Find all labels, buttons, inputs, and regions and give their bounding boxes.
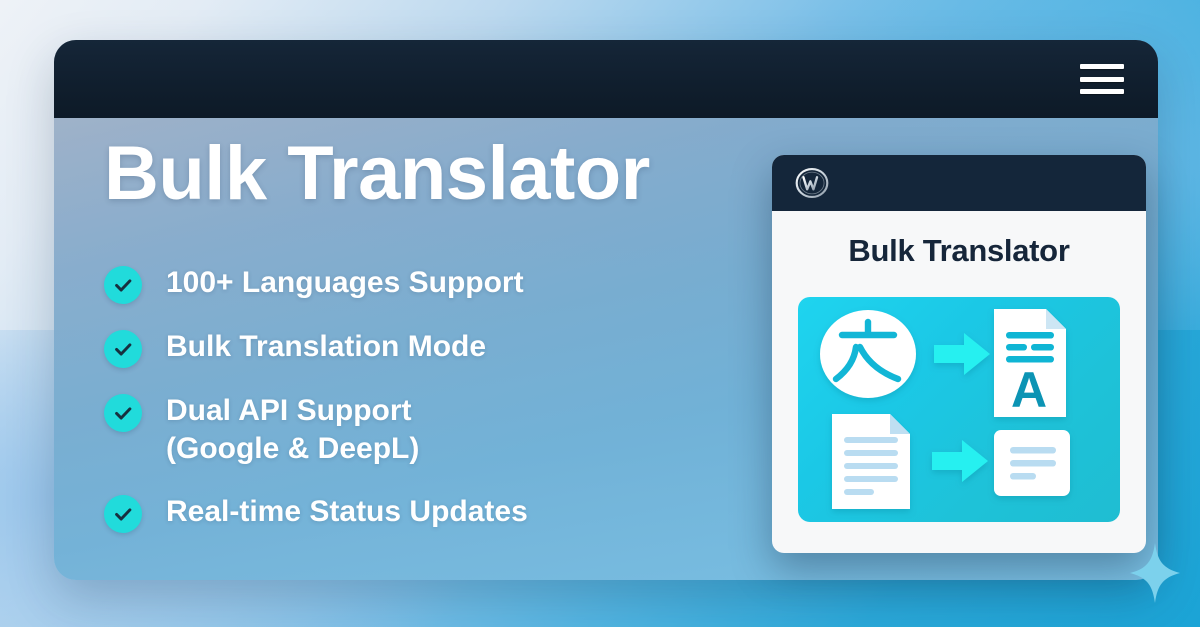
- hamburger-bar-2: [1080, 77, 1124, 82]
- check-circle-icon: [104, 495, 142, 533]
- hero-content: Bulk Translator 100+ Languages Support: [104, 136, 794, 557]
- list-item: Bulk Translation Mode: [104, 328, 794, 368]
- check-circle-icon: [104, 330, 142, 368]
- feature-sublabel: (Google & DeepL): [166, 430, 419, 468]
- feature-label: Bulk Translation Mode: [166, 328, 486, 366]
- plugin-preview-card: Bulk Translator: [772, 155, 1146, 553]
- wordpress-logo-icon: [794, 165, 830, 201]
- card-title: Bulk Translator: [772, 211, 1146, 269]
- target-letter: A: [1011, 362, 1047, 418]
- translation-illustration: A: [798, 297, 1120, 522]
- panel-topbar: [54, 40, 1158, 118]
- hamburger-menu-icon[interactable]: [1080, 64, 1124, 94]
- arrow-right-icon: [934, 333, 990, 375]
- feature-label: 100+ Languages Support: [166, 264, 524, 302]
- feature-label: Real-time Status Updates: [166, 493, 528, 531]
- check-circle-icon: [104, 394, 142, 432]
- sparkle-icon: [1128, 541, 1182, 605]
- arrow-right-icon: [932, 440, 988, 482]
- list-item: 100+ Languages Support: [104, 264, 794, 304]
- hamburger-bar-3: [1080, 89, 1124, 94]
- poster-canvas: Bulk Translator 100+ Languages Support: [0, 0, 1200, 627]
- check-circle-icon: [104, 266, 142, 304]
- feature-list: 100+ Languages Support Bulk Translation …: [104, 264, 794, 533]
- list-item: Dual API Support (Google & DeepL): [104, 392, 794, 469]
- page-title: Bulk Translator: [104, 136, 794, 212]
- feature-label-group: Dual API Support (Google & DeepL): [166, 392, 419, 469]
- feature-label: Dual API Support: [166, 394, 412, 427]
- hamburger-bar-1: [1080, 64, 1124, 69]
- list-item: Real-time Status Updates: [104, 493, 794, 533]
- card-header: [772, 155, 1146, 211]
